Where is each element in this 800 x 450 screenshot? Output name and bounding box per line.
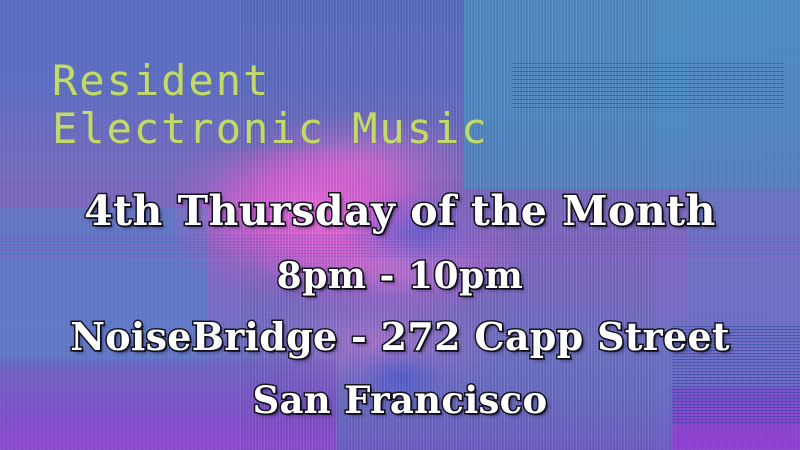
poster-headline: ResidentElectronic Music [52, 57, 489, 153]
event-poster: ResidentElectronic Music 4th Thursday of… [0, 0, 800, 450]
headline-line-1: Resident [52, 56, 270, 105]
headline-line-2: Electronic Music [52, 105, 489, 153]
detail-city: San Francisco [0, 378, 800, 423]
detail-venue: NoiseBridge - 272 Capp Street [0, 314, 800, 360]
background-blue-top-right [464, 0, 800, 189]
detail-date: 4th Thursday of the Month [0, 186, 800, 236]
background-scanlines-top-right [512, 63, 784, 108]
detail-time: 8pm - 10pm [0, 254, 800, 298]
poster-details: 4th Thursday of the Month 8pm - 10pm Noi… [0, 186, 800, 423]
